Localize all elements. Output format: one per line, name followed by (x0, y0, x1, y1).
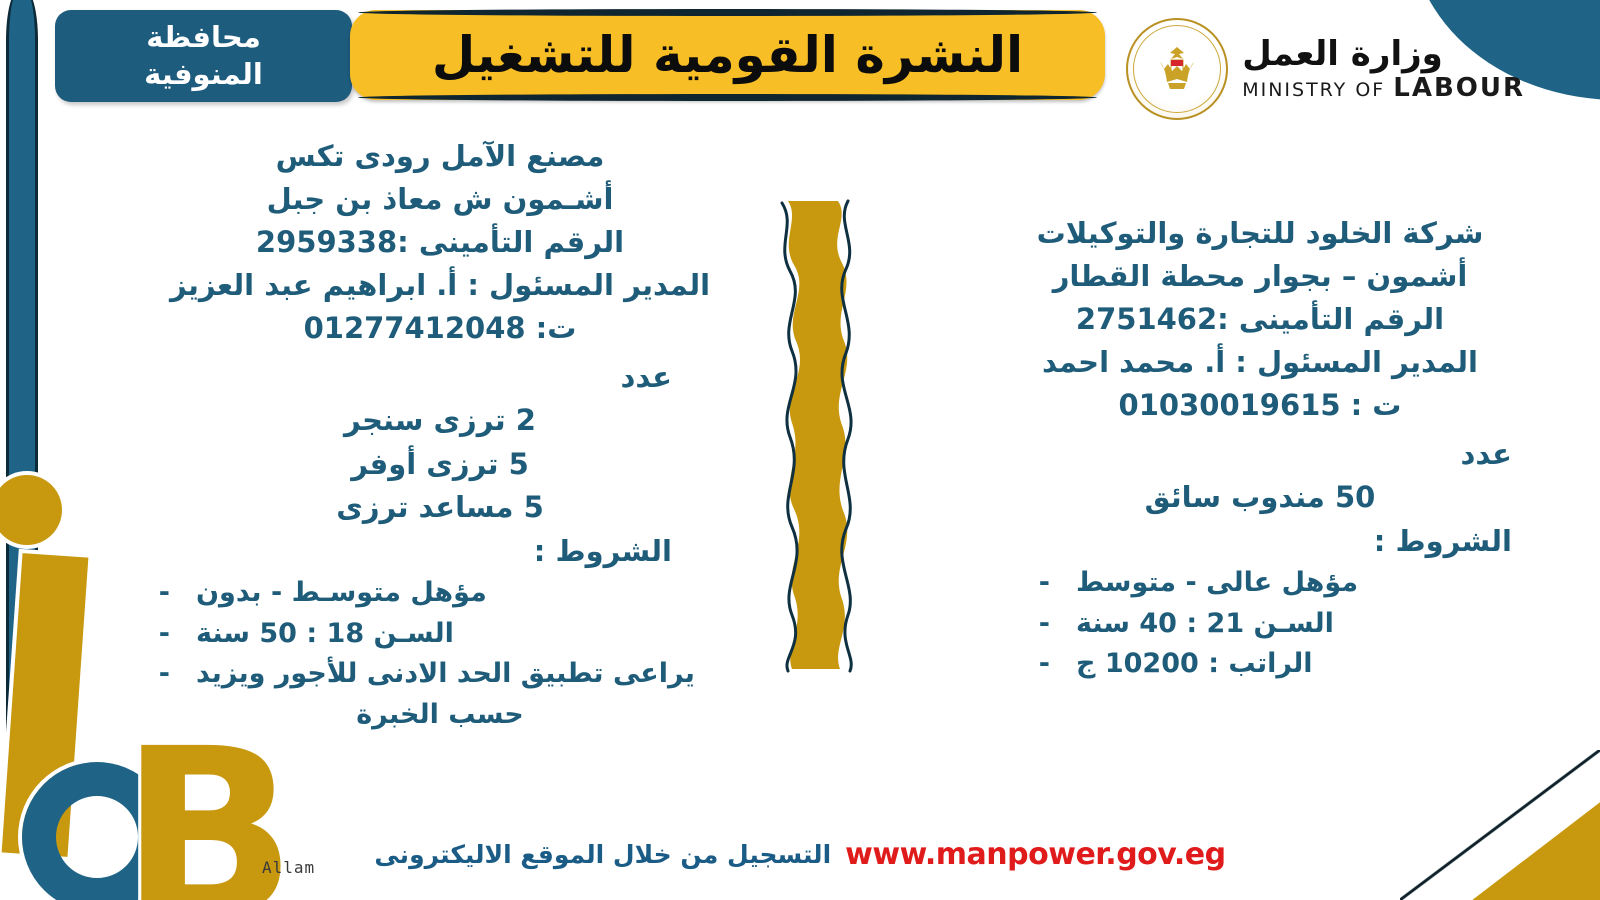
bullet-dash: - (1040, 563, 1050, 604)
conditions-title: الشروط : (160, 530, 720, 574)
org-manager: المدير المسئول : أ. محمد احمد (1000, 341, 1520, 384)
bullet-dash: - (160, 614, 170, 655)
condition-item: السـن 21 : 40 سنة- (1000, 604, 1520, 645)
org-insurance-number: الرقم التأمينى :2751462 (1000, 298, 1520, 341)
condition-text: مؤهل عالى - متوسط (1076, 563, 1358, 604)
condition-item: يراعى تطبيق الحد الادنى للأجور ويزيد- (160, 654, 720, 695)
position-item: 50 مندوب سائق (1000, 476, 1520, 520)
condition-text: يراعى تطبيق الحد الادنى للأجور ويزيد (196, 654, 695, 695)
org-manager: المدير المسئول : أ. ابراهيم عبد العزيز (160, 264, 720, 307)
org-phone: ت : 01030019615 (1000, 384, 1520, 427)
count-label: عدد (160, 356, 720, 400)
watermark-j-stem (2, 553, 89, 857)
bullet-dash: - (1040, 644, 1050, 685)
listing-left: مصنع الآمل رودى تكس أشـمون ش معاذ بن جبل… (160, 135, 720, 735)
watermark-letter-b: B (120, 718, 297, 900)
conditions-list: مؤهل متوسـط - بدون- السـن 18 : 50 سنة- ي… (160, 573, 720, 695)
count-label: عدد (1000, 433, 1520, 477)
ministry-name-arabic: وزارة العمل (1242, 37, 1443, 71)
org-header-left: مصنع الآمل رودى تكس أشـمون ش معاذ بن جبل… (160, 135, 720, 350)
positions-list: 50 مندوب سائق (1000, 476, 1520, 520)
bullet-dash: - (1040, 604, 1050, 645)
condition-item: الراتب : 10200 ج- (1000, 644, 1520, 685)
condition-text: السـن 21 : 40 سنة (1076, 604, 1334, 645)
bullet-dash: - (160, 573, 170, 614)
ministry-logo-text: وزارة العمل MINISTRY OF LABOUR (1242, 37, 1525, 101)
org-phone: ت: 01277412048 (160, 307, 720, 350)
governorate-line-1: محافظة (146, 19, 261, 56)
org-header-right: شركة الخلود للتجارة والتوكيلات أشمون – ب… (1000, 212, 1520, 427)
left-teal-band (6, 0, 38, 830)
listing-right: شركة الخلود للتجارة والتوكيلات أشمون – ب… (1000, 212, 1520, 685)
footer: www.manpower.gov.eg التسجيل من خلال المو… (0, 837, 1600, 872)
wavy-gold-divider (770, 195, 870, 675)
bottom-right-corner-outline (1400, 750, 1600, 900)
org-name: مصنع الآمل رودى تكس (160, 135, 720, 178)
watermark-letter-o (22, 762, 172, 900)
condition-text: السـن 18 : 50 سنة (196, 614, 454, 655)
registration-url[interactable]: www.manpower.gov.eg (845, 837, 1225, 872)
condition-item: مؤهل عالى - متوسط- (1000, 563, 1520, 604)
org-insurance-number: الرقم التأمينى :2959338 (160, 221, 720, 264)
page-title: النشرة القومية للتشغيل (432, 26, 1023, 84)
conditions-title: الشروط : (1000, 520, 1520, 564)
governorate-line-2: المنوفية (144, 56, 263, 93)
watermark-dot (0, 475, 62, 545)
condition-item: السـن 18 : 50 سنة- (160, 614, 720, 655)
position-item: 5 مساعد ترزى (160, 486, 720, 530)
registration-note: التسجيل من خلال الموقع الاليكترونى (374, 840, 831, 869)
position-item: 2 ترزى سنجر (160, 399, 720, 443)
condition-text: مؤهل متوسـط - بدون (196, 573, 487, 614)
governorate-badge: محافظة المنوفية (55, 10, 352, 102)
position-item: 5 ترزى أوفر (160, 443, 720, 487)
egypt-eagle-emblem-icon (1126, 18, 1228, 120)
title-banner: النشرة القومية للتشغيل (350, 10, 1105, 100)
positions-list: 2 ترزى سنجر 5 ترزى أوفر 5 مساعد ترزى (160, 399, 720, 530)
condition-continuation: حسب الخبرة (160, 695, 720, 736)
ministry-name-english: MINISTRY OF LABOUR (1242, 75, 1525, 101)
condition-text: الراتب : 10200 ج (1076, 644, 1313, 685)
org-address: أشـمون ش معاذ بن جبل (160, 178, 720, 221)
org-address: أشمون – بجوار محطة القطار (1000, 255, 1520, 298)
bullet-dash: - (160, 654, 170, 695)
conditions-list: مؤهل عالى - متوسط- السـن 21 : 40 سنة- ال… (1000, 563, 1520, 685)
poster-canvas: B Allam محافظة المنوفية النشرة القومية ل… (0, 0, 1600, 900)
ministry-logo: وزارة العمل MINISTRY OF LABOUR (1126, 18, 1525, 120)
condition-item: مؤهل متوسـط - بدون- (160, 573, 720, 614)
org-name: شركة الخلود للتجارة والتوكيلات (1000, 212, 1520, 255)
